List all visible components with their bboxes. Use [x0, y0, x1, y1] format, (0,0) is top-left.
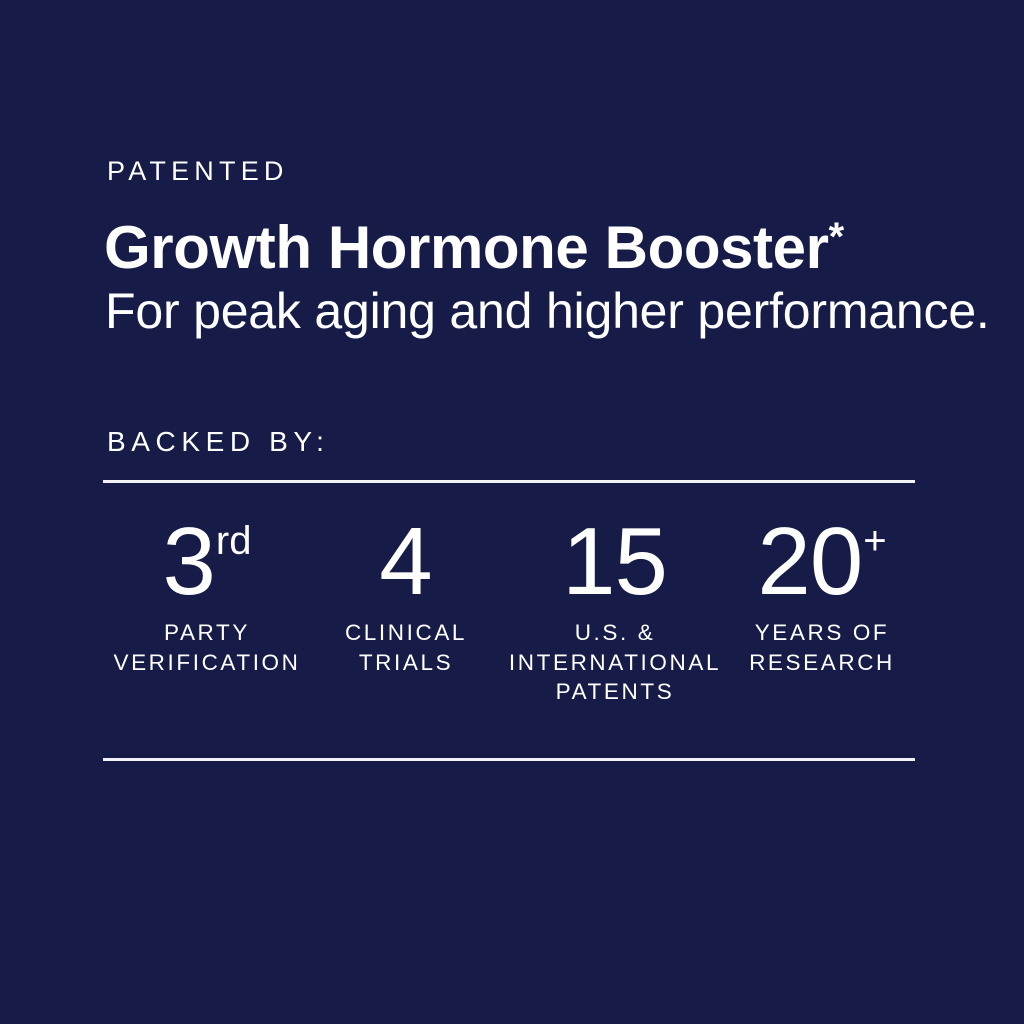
stat-item: 20+ YEARS OF RESEARCH [729, 512, 915, 677]
backed-by-label: BACKED BY: [107, 428, 330, 456]
stat-number: 4 [379, 512, 432, 612]
page-title: Growth Hormone Booster* [104, 216, 844, 280]
stats-row: 3rd PARTY VERIFICATION 4 CLINICAL TRIALS… [103, 512, 915, 707]
eyebrow-patented: PATENTED [107, 158, 289, 185]
subheadline: For peak aging and higher performance. [105, 283, 990, 339]
stat-number-value: 20 [757, 508, 862, 615]
stat-number-value: 15 [562, 508, 667, 615]
stat-number-suffix: rd [216, 519, 252, 563]
stat-label: YEARS OF RESEARCH [749, 618, 895, 677]
stat-number: 20+ [757, 512, 886, 612]
footnote-asterisk: * [829, 215, 845, 259]
stat-item: 3rd PARTY VERIFICATION [103, 512, 311, 677]
stat-number: 3rd [163, 512, 252, 612]
stat-item: 15 U.S. & INTERNATIONAL PATENTS [501, 512, 729, 707]
stat-number-value: 4 [379, 508, 431, 615]
promo-card: PATENTED Growth Hormone Booster* For pea… [0, 0, 1024, 1024]
divider-bottom [103, 758, 915, 761]
stat-number-suffix: + [863, 519, 886, 563]
stat-label: CLINICAL TRIALS [345, 618, 467, 677]
stat-label: PARTY VERIFICATION [113, 618, 300, 677]
stat-item: 4 CLINICAL TRIALS [311, 512, 501, 677]
headline-text: Growth Hormone Booster [104, 214, 829, 281]
stat-label: U.S. & INTERNATIONAL PATENTS [509, 618, 721, 707]
divider-top [103, 480, 915, 483]
stat-number-value: 3 [163, 508, 215, 615]
stat-number: 15 [562, 512, 668, 612]
